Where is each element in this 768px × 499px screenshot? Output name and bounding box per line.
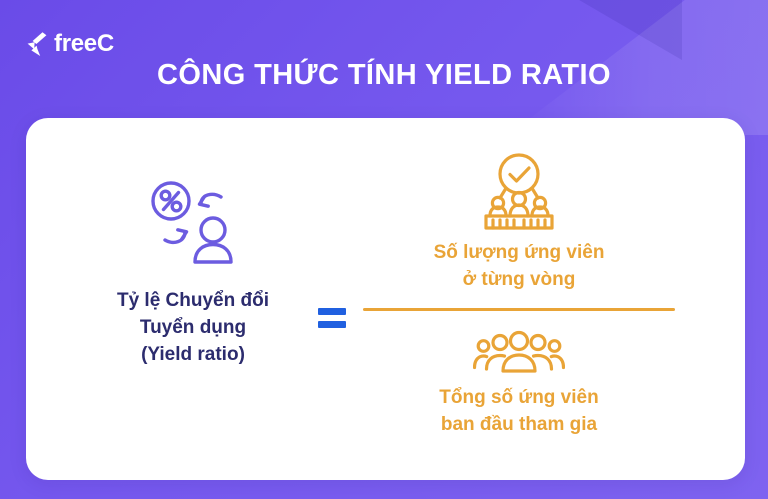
background-diagonal-shadow: [562, 0, 682, 60]
group-of-people-icon: [473, 329, 565, 375]
numerator-line-2: ở từng vòng: [344, 267, 694, 294]
freec-chevron-mark-icon: [26, 31, 48, 57]
formula-left-term: Tỷ lệ Chuyển đổi Tuyển dụng (Yield ratio…: [78, 180, 308, 369]
fraction-divider-bar: [363, 308, 675, 311]
formula-left-label: Tỷ lệ Chuyển đổi Tuyển dụng (Yield ratio…: [78, 288, 308, 369]
fraction-numerator: Số lượng ứng viên ở từng vòng: [344, 150, 694, 294]
fraction-denominator: Tổng số ứng viên ban đầu tham gia: [344, 329, 694, 439]
numerator-line-1: Số lượng ứng viên: [344, 240, 694, 267]
denominator-label: Tổng số ứng viên ban đầu tham gia: [344, 385, 694, 439]
equals-sign: [318, 308, 346, 328]
magnifier-check-candidates-icon: [476, 150, 562, 232]
left-label-line-3: (Yield ratio): [78, 342, 308, 369]
yield-ratio-formula: Tỷ lệ Chuyển đổi Tuyển dụng (Yield ratio…: [26, 118, 745, 480]
equals-bar-top: [318, 308, 346, 315]
formula-fraction: Số lượng ứng viên ở từng vòng: [344, 150, 694, 439]
brand-logo-text: freeC: [54, 32, 114, 56]
left-label-line-2: Tuyển dụng: [78, 315, 308, 342]
denominator-line-2: ban đầu tham gia: [344, 412, 694, 439]
infographic-canvas: freeC CÔNG THỨC TÍNH YIELD RATIO: [0, 0, 768, 499]
equals-bar-bottom: [318, 321, 346, 328]
formula-card: Tỷ lệ Chuyển đổi Tuyển dụng (Yield ratio…: [26, 118, 745, 480]
brand-logo: freeC: [26, 29, 114, 59]
page-title: CÔNG THỨC TÍNH YIELD RATIO: [0, 59, 768, 92]
numerator-label: Số lượng ứng viên ở từng vòng: [344, 240, 694, 294]
percent-conversion-person-icon: [145, 180, 241, 266]
left-label-line-1: Tỷ lệ Chuyển đổi: [78, 288, 308, 315]
denominator-line-1: Tổng số ứng viên: [344, 385, 694, 412]
